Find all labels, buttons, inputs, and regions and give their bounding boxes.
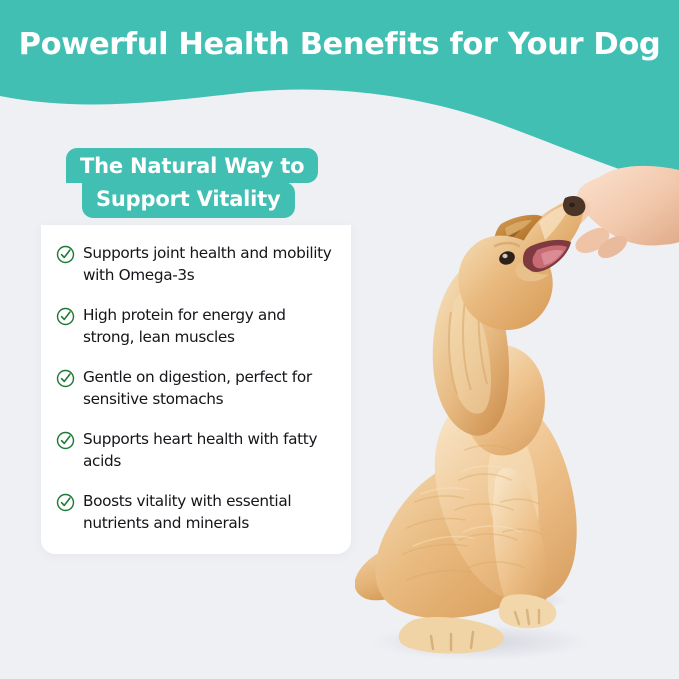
check-circle-icon: [56, 369, 75, 388]
benefit-text: High protein for energy and strong, lean…: [83, 304, 335, 348]
promo-banner: Powerful Health Benefits for Your Dog Th…: [0, 0, 679, 679]
list-item: Boosts vitality with essential nutrients…: [41, 490, 351, 534]
check-circle-icon: [56, 245, 75, 264]
list-item: High protein for energy and strong, lean…: [41, 304, 351, 348]
benefit-text: Supports heart health with fatty acids: [83, 428, 335, 472]
list-item: Supports joint health and mobility with …: [41, 242, 351, 286]
badge: The Natural Way to Support Vitality: [0, 148, 400, 218]
badge-line-1: The Natural Way to: [66, 148, 318, 183]
benefit-text: Boosts vitality with essential nutrients…: [83, 490, 335, 534]
benefit-text: Gentle on digestion, perfect for sensiti…: [83, 366, 335, 410]
list-item: Gentle on digestion, perfect for sensiti…: [41, 366, 351, 410]
badge-line-2: Support Vitality: [82, 182, 295, 218]
list-item: Supports heart health with fatty acids: [41, 428, 351, 472]
check-circle-icon: [56, 307, 75, 326]
benefit-text: Supports joint health and mobility with …: [83, 242, 335, 286]
check-circle-icon: [56, 493, 75, 512]
benefits-card: Supports joint health and mobility with …: [41, 225, 351, 554]
check-circle-icon: [56, 431, 75, 450]
page-title: Powerful Health Benefits for Your Dog: [0, 23, 679, 67]
dog-photo: [355, 150, 679, 679]
dog-body: [355, 196, 585, 654]
